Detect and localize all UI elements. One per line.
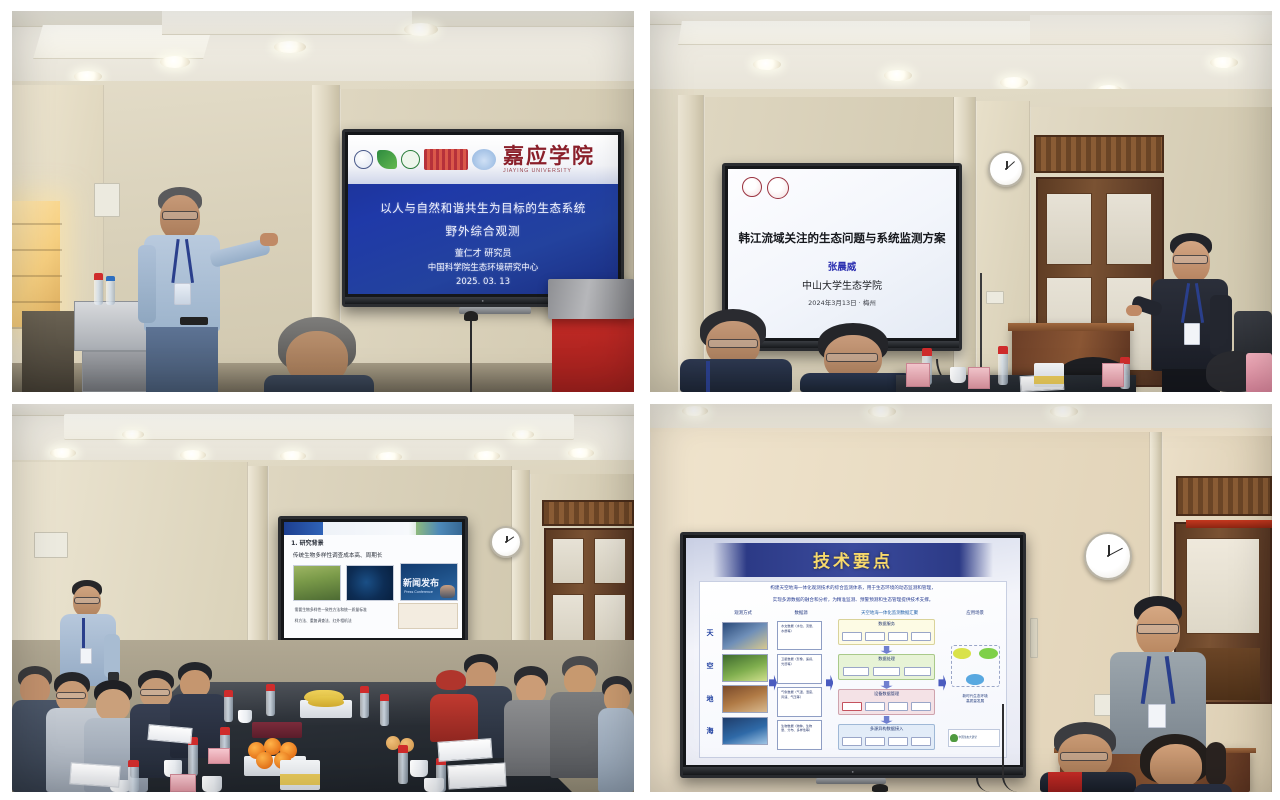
wall-clock: [988, 151, 1024, 187]
glasses-icon: [56, 692, 86, 699]
wall-clock: [1084, 532, 1132, 580]
name-badge: [80, 648, 92, 664]
observation-photo-sea: [722, 717, 768, 745]
emblem-circle-icon: [354, 150, 373, 169]
application-label: 新时代生态环境 高质量发展: [945, 694, 1006, 703]
ceiling-downlight-icon: [404, 23, 438, 36]
glasses-icon: [1137, 624, 1179, 634]
name-card: [208, 748, 230, 764]
observation-photo-ground: [722, 685, 768, 713]
microphone-icon: [464, 311, 478, 321]
pipeline-chip: [911, 632, 931, 641]
ceiling-downlight-icon: [180, 450, 206, 460]
ceiling-downlight-icon: [50, 448, 76, 458]
ceiling-downlight-icon: [753, 59, 781, 70]
name-card: [1102, 363, 1124, 387]
down-arrow-icon: [880, 646, 892, 654]
pipeline-stage: 数据服务: [838, 619, 936, 645]
display-brand-mark: ●: [482, 298, 485, 303]
data-source-box: 生物数据（物种、生物量、分布、多样性等）: [777, 720, 823, 750]
tissue-box: [280, 760, 320, 790]
thumbnail-overlay-text: 新闻发布: [403, 576, 439, 589]
photo-top-right: 韩江流域关注的生态问题与系统监测方案 张晨威 中山大学生态学院 2024年3月1…: [650, 11, 1272, 392]
slide-date: 2024年3月13日 · 梅州: [728, 297, 956, 307]
data-source-text: 卫星数据（影像、遥感、光谱等）: [781, 657, 818, 680]
slide-lead-text-1: 构建天空地海一体化观测技术的综合监测体系，用于生态环境的动态监测和管理，: [710, 586, 997, 592]
name-card: [968, 367, 990, 389]
door-transom: [1034, 135, 1164, 173]
slide-title: 技术要点: [813, 547, 893, 572]
glasses-icon: [162, 211, 198, 220]
slide-lead-text-2: 实现多源数据的融合和分析，为精准监测、预警预测和生态管理提供技术支撑。: [710, 598, 997, 604]
slide-technical-points: 技术要点 构建天空地海一体化观测技术的综合监测体系，用于生态环境的动态监测和管理…: [686, 538, 1020, 765]
green-ring-icon: [401, 150, 420, 169]
presenter-person: [132, 187, 262, 392]
column-header-observation: 观测方式: [716, 610, 771, 616]
ceiling-downlight-icon: [1050, 406, 1078, 417]
slide-research-background: 1. 研究背景 传统生物多样性调查成本高、周期长 新闻发布 Press Conf…: [284, 522, 462, 638]
slide-presenter: 张晨威: [728, 259, 956, 273]
slide-title-line-1: 以人与自然和谐共生为目标的生态系统: [348, 200, 618, 216]
pipeline-chip: [888, 737, 908, 746]
lectern: [548, 279, 634, 319]
observation-photo-sky: [722, 622, 768, 650]
down-arrow-icon: [880, 716, 892, 724]
audience-person: [680, 309, 792, 392]
column-header-pipeline: 天空地海一体化监测数据汇聚: [835, 610, 945, 616]
pipeline-chip: [843, 667, 870, 676]
application-node: [951, 645, 1000, 687]
red-seal-icon: [424, 149, 468, 170]
ceiling-downlight-icon: [1210, 57, 1238, 68]
photo-bottom-left: 1. 研究背景 传统生物多样性调查成本高、周期长 新闻发布 Press Conf…: [12, 404, 634, 792]
data-source-box: 气象数据（气温、湿度、风速、气压等）: [777, 687, 823, 717]
glasses-icon: [74, 597, 100, 604]
green-leaf-icon: [377, 150, 397, 169]
domain-label-ground: 地: [706, 694, 713, 704]
pipeline-chip: [904, 667, 931, 676]
lectern-front-panel: [552, 311, 634, 392]
ceiling-downlight-icon: [868, 406, 896, 417]
slide-title: 韩江流域关注的生态问题与系统监测方案: [728, 230, 956, 246]
ceiling-downlight-icon: [160, 56, 190, 68]
blue-wave-icon: [472, 149, 496, 170]
slide-bullet-2: 需要生物多样性一致性方法和统一质量标准: [295, 607, 367, 613]
pipeline-stage-name: 数据处理: [839, 656, 935, 662]
thumbnail-overlay-sub: Press Conference: [404, 590, 433, 594]
name-badge: [1148, 704, 1166, 728]
slide-affiliation: 中山大学生态学院: [728, 277, 956, 292]
pipeline-chip: [865, 702, 885, 711]
pipeline-stage: 数据处理: [838, 654, 936, 680]
observation-photo-air: [722, 654, 768, 682]
pipeline-chip: [865, 632, 885, 641]
ceiling-downlight-icon: [512, 430, 534, 439]
slide-title-band: 技术要点: [713, 543, 994, 577]
pipeline-chip: [873, 667, 900, 676]
audience-person: [1128, 734, 1232, 792]
slide-affiliation: 中国科学院生态环境研究中心: [348, 261, 618, 273]
pipeline-stage: 多源异构数据接入: [838, 724, 936, 750]
ceiling-downlight-icon: [274, 41, 306, 53]
slide-logo-bar: 嘉应学院 JIAYING UNIVERSITY: [348, 135, 618, 184]
pipeline-chip: [842, 737, 862, 746]
audience-person: [170, 662, 226, 758]
university-name: 嘉应学院: [503, 146, 595, 167]
door-transom: [542, 500, 634, 526]
name-badge: [1184, 323, 1200, 345]
audience-person: [598, 676, 634, 792]
document: [437, 738, 492, 762]
microphone-icon: [872, 784, 888, 792]
field-survey-photo: [293, 565, 341, 601]
glasses-icon: [1060, 752, 1108, 761]
display-brand-mark: ●: [852, 769, 855, 774]
fruit-tray: [252, 722, 302, 738]
glasses-icon: [1173, 255, 1208, 264]
data-source-box: 卫星数据（影像、遥感、光谱等）: [777, 654, 823, 684]
slide-header-bar: [284, 522, 462, 535]
slide-title-ecosystem: 嘉应学院 JIAYING UNIVERSITY 以人与自然和谐共生为目标的生态系…: [348, 135, 618, 294]
ceiling-downlight-icon: [1000, 77, 1028, 88]
glasses-icon: [826, 353, 878, 362]
pipeline-stage-name: 数据服务: [839, 621, 935, 627]
pipeline-stage-name: 设备数据管理: [839, 691, 935, 697]
presentation-display: 1. 研究背景 传统生物多样性调查成本高、周期长 新闻发布 Press Conf…: [278, 516, 468, 651]
pipeline-chip: [911, 737, 931, 746]
document: [69, 762, 120, 787]
column-header-datasource: 数据源: [777, 610, 826, 616]
name-card: [906, 363, 930, 387]
microphone-stand: [470, 319, 472, 392]
glasses-icon: [140, 689, 170, 696]
organization-logo: 中国生态大讲堂: [948, 729, 1000, 747]
domain-label-sky: 天: [706, 628, 713, 638]
ceiling-downlight-icon: [122, 430, 144, 439]
down-arrow-icon: [880, 681, 892, 689]
audience-person: [430, 670, 478, 742]
flow-arrow-icon: [938, 675, 946, 691]
name-badge: [174, 283, 191, 305]
underwater-coral-photo: [346, 565, 394, 601]
flow-arrow-icon: [826, 675, 834, 691]
pipeline-chip: [911, 702, 931, 711]
pipeline-chip: [888, 702, 908, 711]
audience-person: [264, 317, 374, 392]
news-conference-photo: 新闻发布 Press Conference: [400, 563, 459, 601]
slide-presenter: 董仁才 研究员: [348, 246, 618, 259]
slide-title-line-2: 野外综合观测: [348, 223, 618, 239]
ceiling-downlight-icon: [568, 448, 594, 458]
document: [447, 762, 506, 789]
university-seal-icon: [742, 177, 762, 197]
audience-person: [1206, 351, 1272, 392]
university-seal-icon: [767, 177, 789, 199]
photo-bottom-right: 技术要点 构建天空地海一体化观测技术的综合监测体系，用于生态环境的动态监测和管理…: [650, 404, 1272, 792]
pipeline-stage: 设备数据管理: [838, 689, 936, 715]
slide-section-heading: 1. 研究背景: [291, 538, 324, 547]
pipeline-chip: [865, 737, 885, 746]
data-source-text: 水文数据（水位、流量、水质等）: [781, 624, 818, 647]
presentation-display: 技术要点 构建天空地海一体化观测技术的综合监测体系，用于生态环境的动态监测和管理…: [680, 532, 1026, 778]
pipeline-chip: [842, 632, 862, 641]
slide-diagram-body: 构建天空地海一体化观测技术的综合监测体系，用于生态环境的动态监测和管理， 实现多…: [699, 581, 1006, 758]
photo-collage: 嘉应学院 JIAYING UNIVERSITY 以人与自然和谐共生为目标的生态系…: [0, 0, 1280, 800]
university-name-en: JIAYING UNIVERSITY: [503, 168, 595, 174]
domain-label-sea: 海: [706, 726, 713, 736]
wall-clock: [490, 526, 522, 558]
ceiling-downlight-icon: [682, 406, 708, 416]
pipeline-chip: [842, 702, 862, 711]
glasses-icon: [708, 339, 758, 348]
photo-top-left: 嘉应学院 JIAYING UNIVERSITY 以人与自然和谐共生为目标的生态系…: [12, 11, 634, 392]
domain-label-air: 空: [706, 661, 713, 671]
pipeline-chip: [888, 632, 908, 641]
door-transom: [1176, 476, 1272, 516]
slide-bullet-1: 传统生物多样性调查成本高、周期长: [293, 551, 383, 559]
ceiling-downlight-icon: [884, 70, 912, 81]
slide-bullet-3: 样方法、重复调查法、红外相机法: [295, 618, 352, 624]
data-source-box: 水文数据（水位、流量、水质等）: [777, 621, 823, 651]
column-header-application: 应用场景: [951, 610, 1000, 616]
data-source-text: 气象数据（气温、湿度、风速、气压等）: [781, 690, 818, 713]
data-source-text: 生物数据（物种、生物量、分布、多样性等）: [781, 724, 818, 747]
name-card: [170, 774, 196, 792]
organization-logo-text: 中国生态大讲堂: [959, 736, 977, 739]
pipeline-stage-name: 多源异构数据接入: [839, 726, 935, 732]
